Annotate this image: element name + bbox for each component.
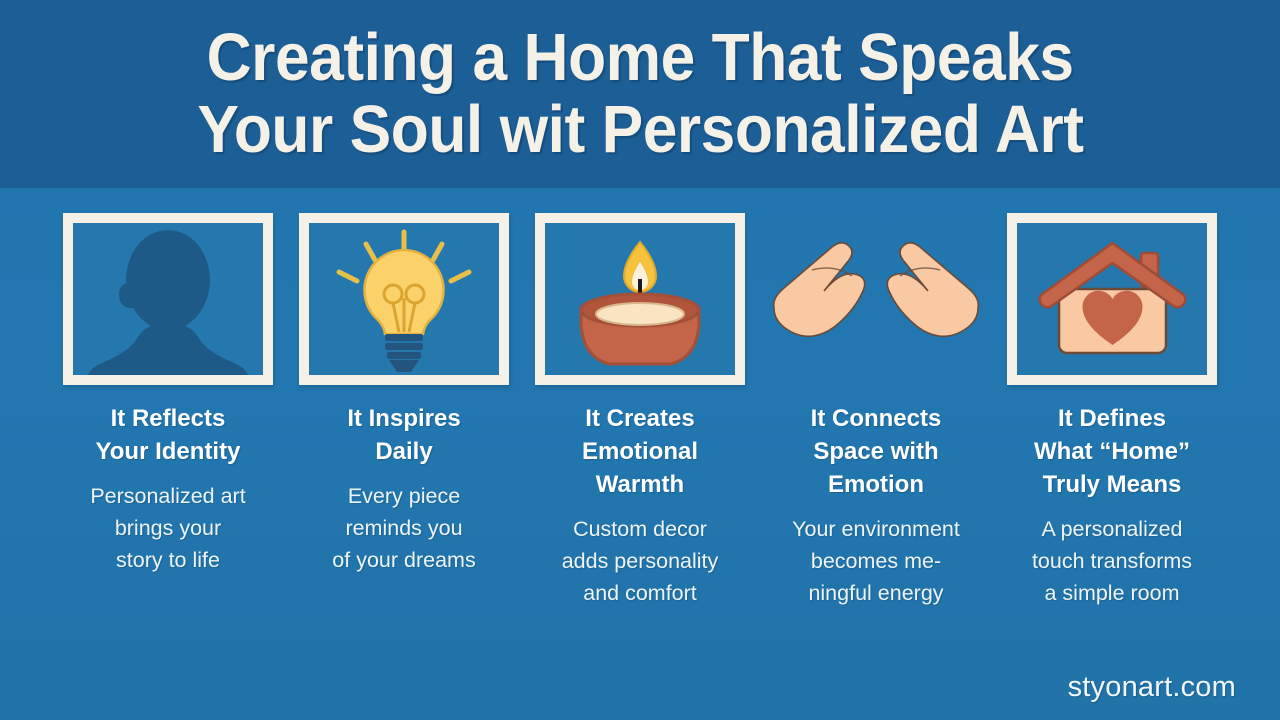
card-heading: It Creates Emotional Warmth — [528, 402, 753, 501]
card-body-line: touch transforms — [996, 545, 1228, 577]
picture-frame — [1007, 213, 1217, 385]
card-reflects-identity: It Reflects Your Identity Personalized a… — [50, 188, 286, 576]
picture-frame — [63, 213, 273, 385]
card-body: Every piece reminds you of your dreams — [288, 480, 520, 576]
card-body-line: reminds you — [288, 512, 520, 544]
page-title-line-2: Your Soul wit Personalized Art — [197, 94, 1083, 166]
card-body-line: story to life — [52, 544, 284, 576]
benefit-cards-row: It Reflects Your Identity Personalized a… — [0, 188, 1280, 658]
card-body: A personalized touch transforms a simple… — [996, 513, 1228, 609]
card-heading: It Reflects Your Identity — [56, 402, 281, 468]
card-artwork — [50, 188, 286, 384]
card-artwork — [522, 188, 758, 384]
picture-frame — [535, 213, 745, 385]
card-heading: It Defines What “Home” Truly Means — [1000, 402, 1225, 501]
card-artwork — [758, 188, 994, 384]
card-body: Your environment becomes me- ningful ene… — [760, 513, 992, 609]
candle-flame-icon — [555, 224, 725, 374]
house-heart-icon — [1025, 227, 1200, 372]
person-silhouette-icon — [73, 223, 263, 375]
card-heading-line: Your Identity — [56, 435, 281, 468]
card-artwork — [286, 188, 522, 384]
card-heading-line: What “Home” — [1000, 435, 1225, 468]
card-heading-line: Truly Means — [1000, 468, 1225, 501]
frame-inner — [545, 223, 735, 375]
frame-inner — [1017, 223, 1207, 375]
card-heading-line: It Inspires — [292, 402, 517, 435]
card-body-line: becomes me- — [760, 545, 992, 577]
page-title-line-1: Creating a Home That Speaks — [207, 22, 1074, 94]
website-url[interactable]: styonart.com — [1068, 671, 1236, 703]
card-body: Personalized art brings your story to li… — [52, 480, 284, 576]
footer: styonart.com — [1068, 671, 1236, 704]
card-body: Custom decor adds personality and comfor… — [524, 513, 756, 609]
card-heading-line: It Defines — [1000, 402, 1225, 435]
card-heading-line: Emotion — [764, 468, 989, 501]
card-artwork — [994, 188, 1230, 384]
lightbulb-icon — [319, 224, 489, 374]
card-body-line: a simple room — [996, 577, 1228, 609]
card-body-line: Every piece — [288, 480, 520, 512]
card-body-line: Personalized art — [52, 480, 284, 512]
card-inspires-daily: It Inspires Daily Every piece reminds yo… — [286, 188, 522, 576]
frame-inner — [309, 223, 499, 375]
card-body-line: of your dreams — [288, 544, 520, 576]
card-body-line: Custom decor — [524, 513, 756, 545]
header-banner: Creating a Home That Speaks Your Soul wi… — [0, 0, 1280, 188]
frame-inner — [73, 223, 263, 375]
card-heading-line: It Connects — [764, 402, 989, 435]
card-heading-line: Emotional — [528, 435, 753, 468]
card-heading-line: It Creates — [528, 402, 753, 435]
card-body-line: and comfort — [524, 577, 756, 609]
picture-frame — [299, 213, 509, 385]
card-emotional-warmth: It Creates Emotional Warmth Custom decor… — [522, 188, 758, 609]
card-heading-line: Warmth — [528, 468, 753, 501]
card-connects-space-emotion: It Connects Space with Emotion Your envi… — [758, 188, 994, 609]
unframed-artwork — [766, 213, 986, 385]
card-body-line: A personalized — [996, 513, 1228, 545]
card-heading: It Connects Space with Emotion — [764, 402, 989, 501]
card-body-line: brings your — [52, 512, 284, 544]
infographic-poster: Creating a Home That Speaks Your Soul wi… — [0, 0, 1280, 720]
card-heading-line: Daily — [292, 435, 517, 468]
card-body-line: adds personality — [524, 545, 756, 577]
card-body-line: Your environment — [760, 513, 992, 545]
card-body-line: ningful energy — [760, 577, 992, 609]
card-defines-home: It Defines What “Home” Truly Means A per… — [994, 188, 1230, 609]
card-heading-line: Space with — [764, 435, 989, 468]
card-heading-line: It Reflects — [56, 402, 281, 435]
card-heading: It Inspires Daily — [292, 402, 517, 468]
heart-hands-icon — [766, 234, 986, 364]
